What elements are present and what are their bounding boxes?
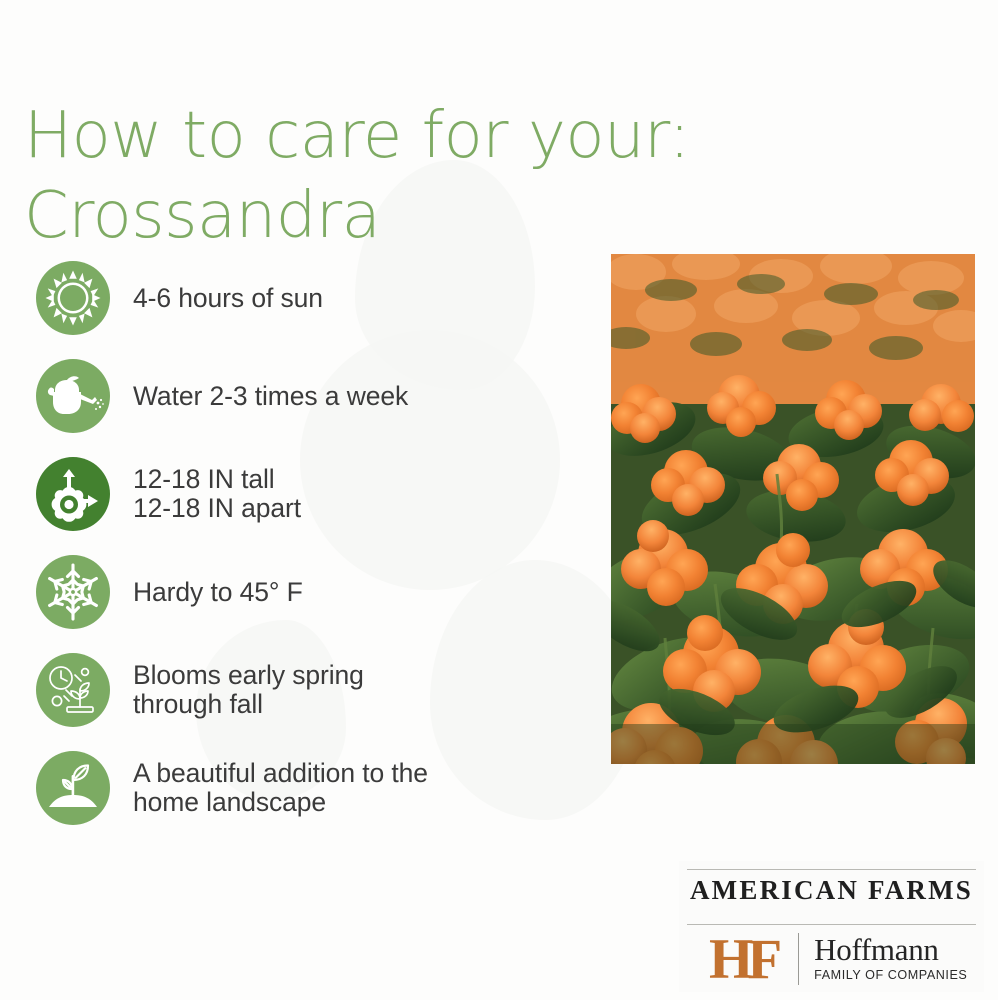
care-item-label: Hardy to 45° F bbox=[133, 578, 303, 607]
care-item-label: A beautiful addition to the home landsca… bbox=[133, 759, 428, 817]
brand-logo: AMERICAN FARMS HF Hoffmann FAMILY OF COM… bbox=[679, 861, 984, 992]
care-instruction-list: 4-6 hours of sun bbox=[36, 258, 576, 846]
seedling-icon bbox=[36, 751, 110, 825]
logo-american-farms: AMERICAN FARMS bbox=[679, 875, 984, 906]
sun-icon bbox=[36, 261, 110, 335]
care-item-water: Water 2-3 times a week bbox=[36, 356, 576, 436]
care-item-label: 4-6 hours of sun bbox=[133, 284, 323, 313]
crossandra-photo bbox=[611, 254, 975, 764]
logo-divider-top bbox=[687, 869, 976, 870]
logo-hoffmann-name: Hoffmann bbox=[814, 932, 938, 967]
care-item-spacing: 12-18 IN tall 12-18 IN apart bbox=[36, 454, 576, 534]
hf-monogram-icon: HF bbox=[709, 931, 776, 988]
plant-spacing-icon bbox=[36, 457, 110, 531]
logo-divider-mid bbox=[687, 924, 976, 925]
care-item-sun: 4-6 hours of sun bbox=[36, 258, 576, 338]
logo-divider-vertical bbox=[798, 933, 799, 985]
care-guide-card: How to care for your: Crossandra bbox=[0, 0, 998, 1000]
care-item-label: 12-18 IN tall 12-18 IN apart bbox=[133, 465, 301, 523]
care-item-hardiness: Hardy to 45° F bbox=[36, 552, 576, 632]
care-item-bloom-time: Blooms early spring through fall bbox=[36, 650, 576, 730]
watering-can-icon bbox=[36, 359, 110, 433]
page-title-line1: How to care for your: bbox=[24, 99, 690, 173]
logo-hoffmann-text: Hoffmann FAMILY OF COMPANIES bbox=[814, 934, 984, 984]
logo-hoffmann-subtitle: FAMILY OF COMPANIES bbox=[814, 968, 967, 982]
snowflake-icon bbox=[36, 555, 110, 629]
bloom-time-icon bbox=[36, 653, 110, 727]
care-item-label: Blooms early spring through fall bbox=[133, 661, 364, 719]
logo-hoffmann-block: HF Hoffmann FAMILY OF COMPANIES bbox=[679, 927, 984, 991]
care-item-landscape: A beautiful addition to the home landsca… bbox=[36, 748, 576, 828]
care-item-label: Water 2-3 times a week bbox=[133, 382, 408, 411]
page-title-line2: Crossandra bbox=[24, 176, 784, 256]
